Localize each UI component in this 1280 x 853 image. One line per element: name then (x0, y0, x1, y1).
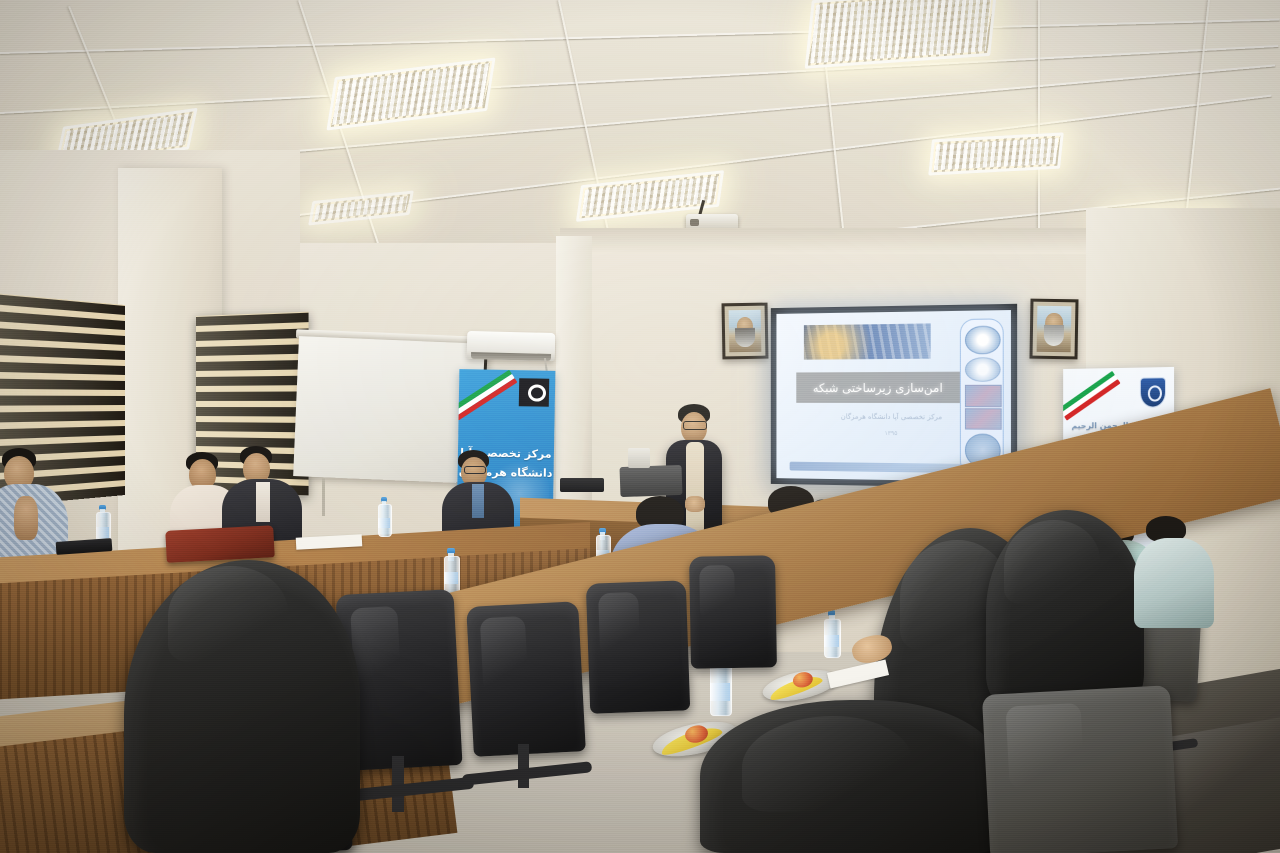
slide-subtitle-secondary: ۱۳۹۵ (835, 429, 948, 437)
dress-shirt (686, 442, 704, 538)
chair-leg (518, 744, 529, 788)
portrait-image (729, 310, 762, 353)
water-bottle[interactable] (444, 548, 458, 594)
office-chair[interactable] (689, 555, 777, 668)
water-bottle[interactable] (824, 610, 839, 658)
chador-highlight (1004, 520, 1100, 604)
glasses-icon (464, 466, 486, 474)
office-chair[interactable] (982, 685, 1178, 853)
slide-header-image (803, 323, 931, 359)
bottle-label (378, 518, 390, 528)
screen-stand-leg (322, 478, 325, 516)
ceiling-soffit (560, 228, 1090, 254)
portrait-right (1029, 299, 1078, 360)
lectern-equipment (628, 448, 650, 468)
slide-title: امن‌سازی زیرساختی شبکه (813, 380, 943, 394)
slide-logo-rail (960, 319, 1003, 476)
slide-title-band: امن‌سازی زیرساختی شبکه (797, 372, 960, 403)
clasped-hands (685, 496, 705, 512)
chair-back (466, 601, 586, 757)
chair-back (586, 580, 690, 713)
lectern (619, 465, 682, 497)
chair-highlight (598, 592, 640, 658)
iran-flag-ribbon-icon (457, 370, 518, 421)
chair-highlight (699, 565, 734, 622)
shirt-collar (256, 482, 270, 522)
slide-subtitle-primary: مرکز تخصصی آپا دانشگاه هرمزگان (826, 413, 957, 422)
presentation-slide: امن‌سازی زیرساختی شبکه مرکز تخصصی آپا دا… (776, 310, 1011, 482)
iran-flag-ribbon-icon (1063, 371, 1120, 421)
bottle-label (824, 635, 839, 647)
water-bottle[interactable] (378, 497, 390, 537)
slide-thumbnail-icon (965, 385, 1002, 407)
projector-lens-icon (690, 219, 699, 226)
shirt-collar (472, 484, 484, 518)
portrait-left (722, 303, 769, 360)
apa-logo-icon (519, 378, 549, 407)
portrait-beard-icon (735, 327, 755, 347)
portrait-image (1037, 306, 1072, 353)
slide-thumbnail-icon (965, 408, 1002, 430)
slide-emblem-icon (965, 326, 1000, 355)
bottle-label (96, 527, 109, 538)
chador-highlight (168, 566, 288, 662)
torso (1134, 538, 1214, 628)
leather-briefcase (165, 525, 275, 563)
glasses-icon (683, 421, 707, 430)
laptop (560, 478, 604, 492)
chador-highlight (742, 716, 912, 812)
slide-emblem-icon (965, 357, 1000, 382)
bottle-label (444, 572, 458, 584)
conference-room-photo: امن‌سازی زیرساختی شبکه مرکز تخصصی آپا دا… (0, 0, 1280, 853)
portrait-beard-icon (1043, 325, 1064, 347)
chair-back (982, 685, 1178, 853)
arm-raised (14, 496, 38, 540)
office-chair[interactable] (466, 601, 586, 757)
office-chair[interactable] (586, 580, 690, 713)
bottle-label (710, 683, 730, 701)
chair-highlight (1005, 703, 1084, 788)
ceiling-light-fixture (928, 132, 1064, 175)
chair-back (689, 555, 777, 668)
chair-highlight (480, 616, 529, 693)
security-shield-icon (1140, 377, 1166, 408)
ceiling-grid-line (1038, 0, 1040, 240)
